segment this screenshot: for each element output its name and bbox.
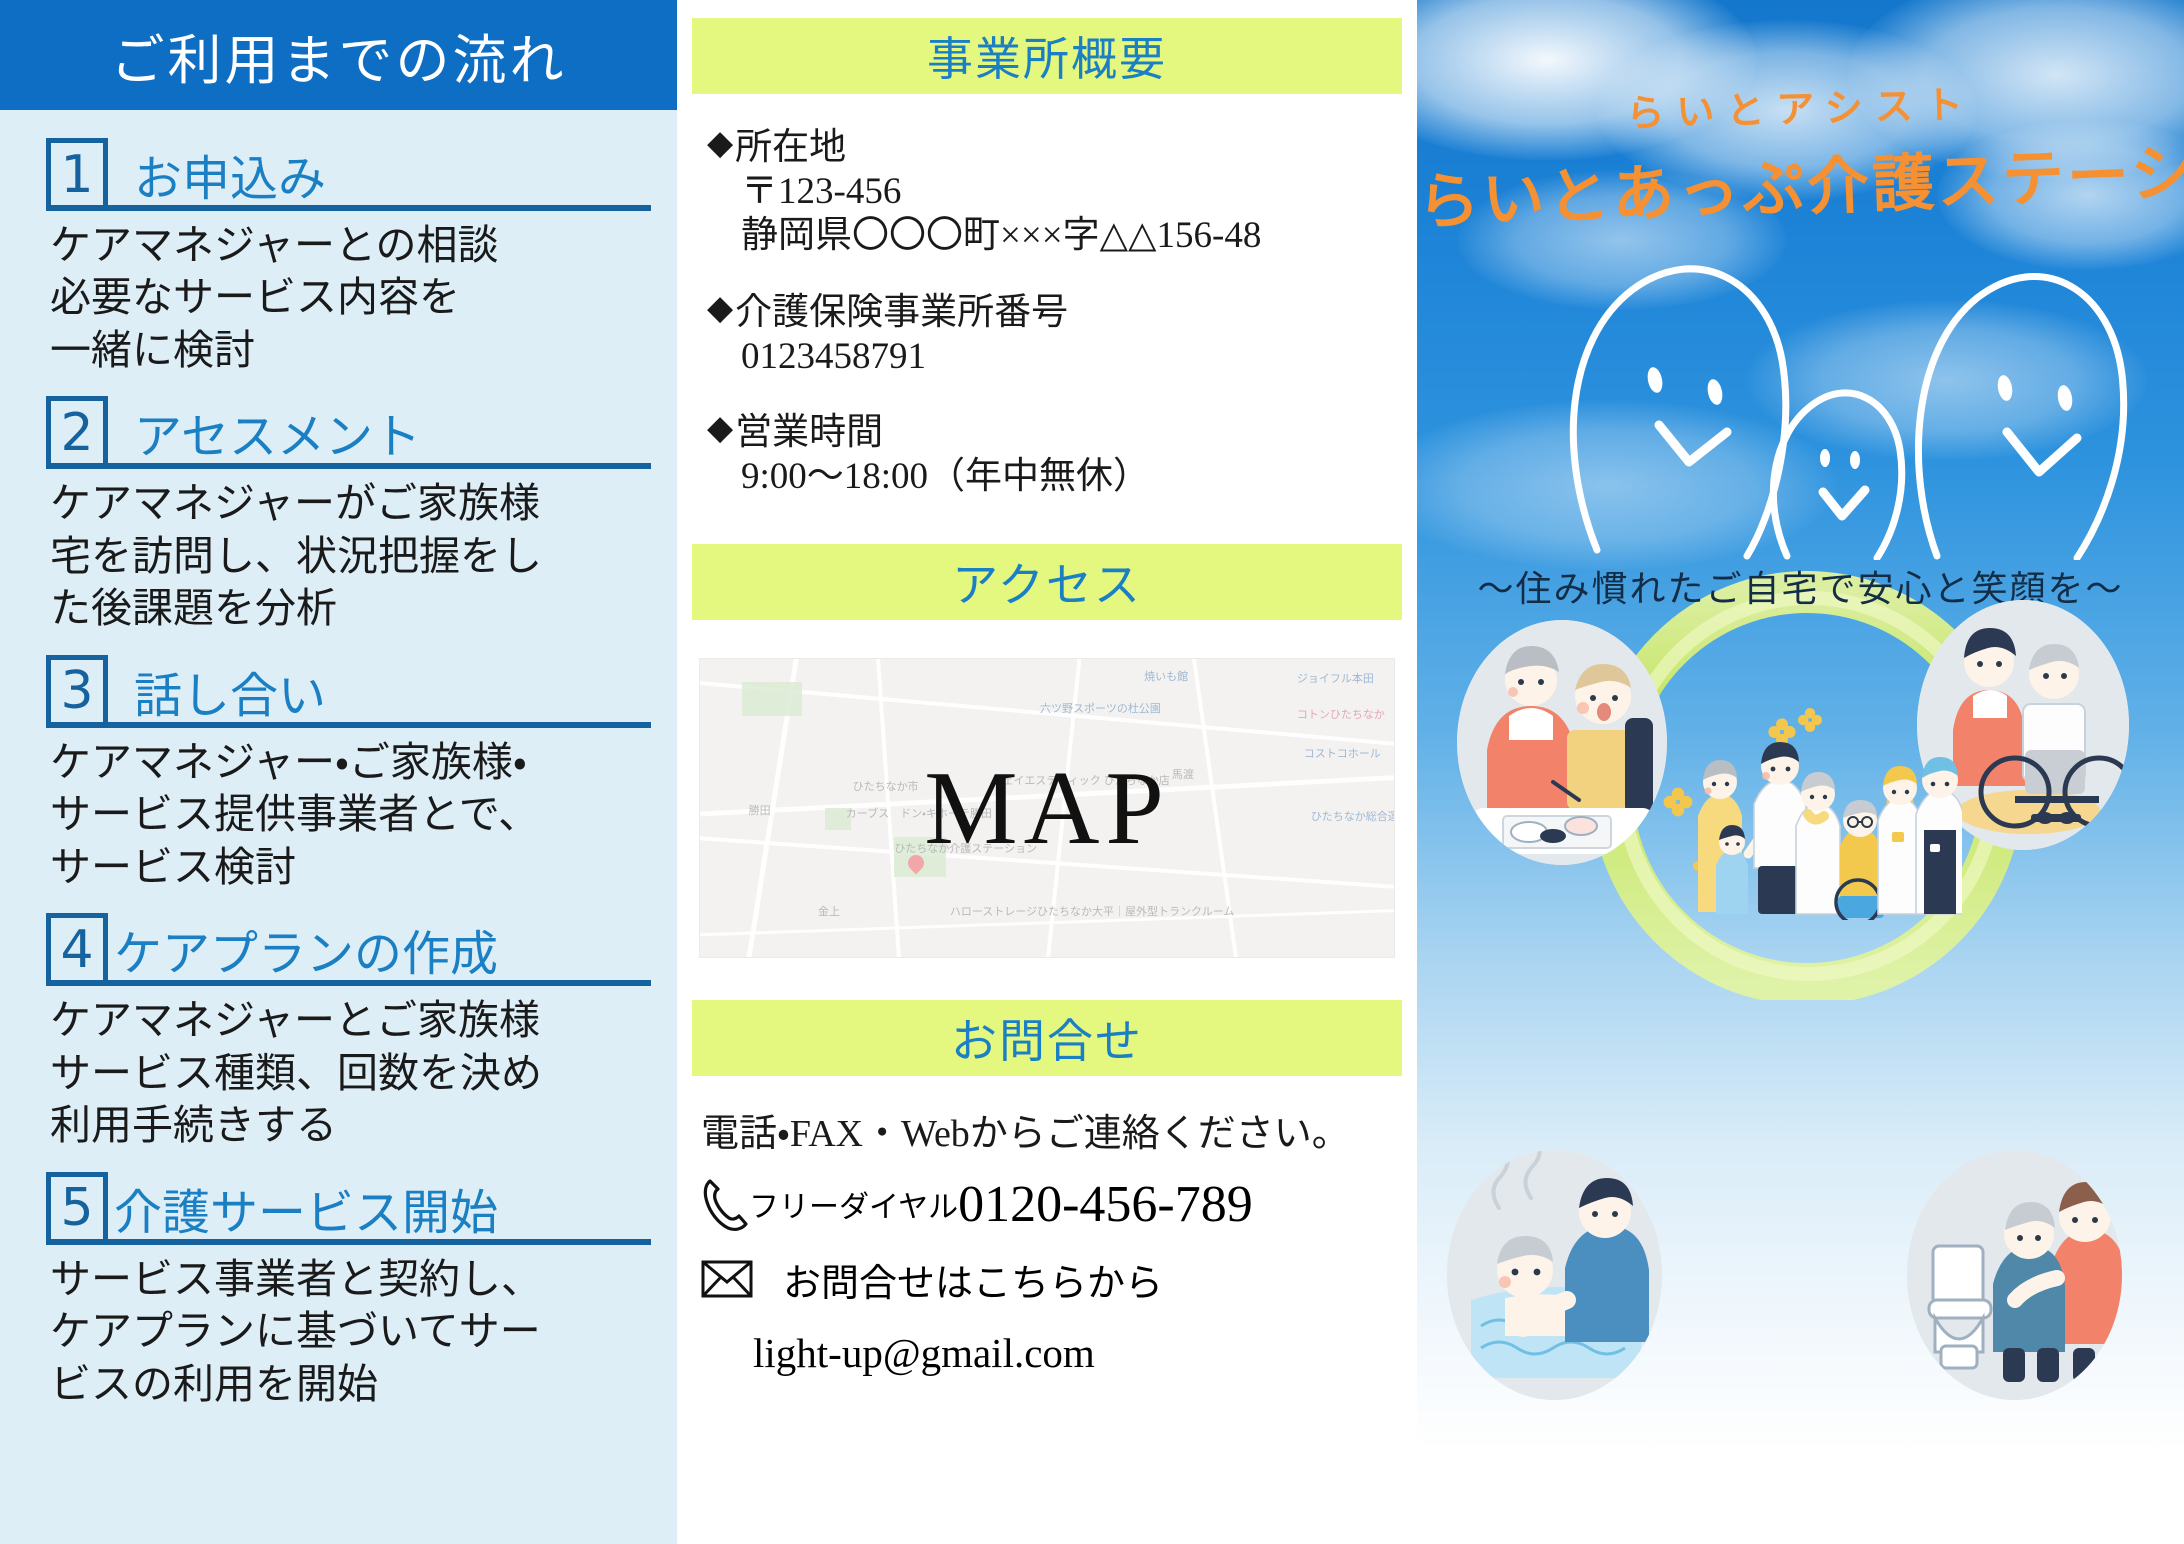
contact-band-title: お問合せ [951,1005,1143,1071]
flow-step-2: 2 アセスメント ケアマネジャーがご家族様 宅を訪問し、状況把握をし た後課題を… [46,382,651,634]
step-title-2: アセスメント [108,414,421,468]
access-band: アクセス [692,544,1402,620]
step-number-badge-2: 2 [46,396,108,468]
diamond-bullet-icon: ◆ [707,408,733,448]
family-group-illustration [1662,690,1962,920]
step-desc-line: ケアマネジャーがご家族様 [50,477,651,529]
flow-panel: ご利用までの流れ 1 お申込み ケアマネジャーとの相談 必要なサービス内容を 一… [0,0,677,1544]
step-desc-line: た後課題を分析 [50,582,651,634]
brochure-page: ご利用までの流れ 1 お申込み ケアマネジャーとの相談 必要なサービス内容を 一… [0,0,2184,1544]
flow-step-5-head: 5 介護サービス開始 [46,1158,651,1244]
step-desc-line: サービス種類、回数を決め [50,1047,651,1099]
flow-header: ご利用までの流れ [0,0,677,110]
step-desc-line: サービス検討 [50,841,651,893]
brand-tagline: 〜住み慣れたご自宅で安心と笑顔を〜 [1417,560,2184,612]
diamond-bullet-icon: ◆ [707,288,733,328]
step-title-1: お申込み [108,156,326,210]
mail-address[interactable]: light-up@gmail.com [753,1329,1393,1377]
step-description-4: ケアマネジャーとご家族様 サービス種類、回数を決め 利用手続きする [46,994,651,1151]
overview-item-hours-label: ◆ 営業時間 [707,401,1387,455]
step-desc-line: ケアプランに基づいてサー [50,1305,651,1357]
overview-band: 事業所概要 [692,18,1402,94]
contact-band: お問合せ [692,1000,1402,1076]
overview-item-hours: ◆ 営業時間 9:00〜18:00（年中無休） [707,401,1387,499]
flow-step-4: 4 ケアプランの作成 ケアマネジャーとご家族様 サービス種類、回数を決め 利用手… [46,899,651,1151]
brand-logo-main: らいとあっぷ介護ステーション [1417,122,2184,241]
flow-header-title: ご利用までの流れ [111,16,567,95]
overview-item-license-label: ◆ 介護保険事業所番号 [707,281,1387,335]
flow-step-1: 1 お申込み ケアマネジャーとの相談 必要なサービス内容を 一緒に検討 [46,124,651,376]
flow-step-1-head: 1 お申込み [46,124,651,210]
step-desc-line: 必要なサービス内容を [50,271,651,323]
step-number-badge-4: 4 [46,913,108,985]
overview-item-address-label: ◆ 所在地 [707,116,1387,170]
diamond-bullet-icon: ◆ [707,123,733,163]
info-panel: 事業所概要 ◆ 所在地 〒123-456 静岡県〇〇〇町×××字△△156-48… [677,0,1417,1544]
contact-mail-row[interactable]: お問合せはこちらから [701,1252,1393,1307]
access-map[interactable]: ひたちなか市 勝田 金上 六ツ野スポーツの杜公園 ジェイエステティック ひたちな… [699,658,1395,958]
step-desc-line: サービス提供事業者とで、 [50,788,651,840]
overview-item-license: ◆ 介護保険事業所番号 0123458791 [707,281,1387,379]
photo-bathing-assistance [1447,1150,1662,1400]
mail-cta-label: お問合せはこちらから [783,1252,1163,1307]
contact-intro-text: 電話・FAX・Webからご連絡ください。 [701,1102,1393,1157]
step-desc-line: サービス事業者と契約し、 [50,1253,651,1305]
overview-license-number: 0123458791 [707,335,1387,379]
photo-meal-assistance [1457,620,1667,865]
overview-business-hours: 9:00〜18:00（年中無休） [707,455,1387,499]
overview-label-text: 営業時間 [735,401,883,455]
brand-logo: らいとアシスト らいとあっぷ介護ステーション [1417,78,2184,227]
freedial-label: フリーダイヤル [749,1182,958,1226]
step-description-5: サービス事業者と契約し、 ケアプランに基づいてサー ビスの利用を開始 [46,1253,651,1410]
step-number-badge-5: 5 [46,1172,108,1244]
contact-phone-row[interactable]: フリーダイヤル 0120-456-789 [701,1175,1393,1234]
overview-band-title: 事業所概要 [927,23,1167,89]
freedial-number: 0120-456-789 [958,1175,1253,1234]
overview-label-text: 所在地 [735,116,846,170]
step-description-3: ケアマネジャー・ご家族様・ サービス提供事業者とで、 サービス検討 [46,736,651,893]
flow-steps-list: 1 お申込み ケアマネジャーとの相談 必要なサービス内容を 一緒に検討 2 アセ… [0,110,677,1410]
step-title-4: ケアプランの作成 [108,931,498,985]
step-desc-line: ビスの利用を開始 [50,1358,651,1410]
step-number-badge-3: 3 [46,655,108,727]
cover-panel: らいとアシスト らいとあっぷ介護ステーション 〜住み慣れたご自宅で安心と笑顔を〜 [1417,0,2184,1544]
flow-step-3-head: 3 話し合い [46,641,651,727]
step-title-5: 介護サービス開始 [108,1190,498,1244]
step-description-2: ケアマネジャーがご家族様 宅を訪問し、状況把握をし た後課題を分析 [46,477,651,634]
flow-step-4-head: 4 ケアプランの作成 [46,899,651,985]
flow-step-2-head: 2 アセスメント [46,382,651,468]
overview-item-address: ◆ 所在地 〒123-456 静岡県〇〇〇町×××字△△156-48 [707,116,1387,259]
step-title-3: 話し合い [108,673,326,727]
step-description-1: ケアマネジャーとの相談 必要なサービス内容を 一緒に検討 [46,219,651,376]
sky-smiley-drawing [1537,220,2157,560]
contact-details: 電話・FAX・Webからご連絡ください。 フリーダイヤル 0120-456-78… [677,1102,1417,1377]
flow-step-5: 5 介護サービス開始 サービス事業者と契約し、 ケアプランに基づいてサー ビスの… [46,1158,651,1410]
step-desc-line: 一緒に検討 [50,324,651,376]
step-desc-line: ケアマネジャーとご家族様 [50,994,651,1046]
step-desc-line: 利用手続きする [50,1099,651,1151]
mail-icon [701,1258,753,1300]
overview-items: ◆ 所在地 〒123-456 静岡県〇〇〇町×××字△△156-48 ◆ 介護保… [677,116,1417,500]
overview-street-address: 静岡県〇〇〇町×××字△△156-48 [707,214,1387,258]
map-overlay-label: MAP [700,659,1394,957]
overview-postal-code: 〒123-456 [707,170,1387,214]
step-number-badge-1: 1 [46,138,108,210]
phone-icon [701,1176,753,1232]
access-band-title: アクセス [952,549,1142,615]
step-desc-line: ケアマネジャー・ご家族様・ [50,736,651,788]
flow-step-3: 3 話し合い ケアマネジャー・ご家族様・ サービス提供事業者とで、 サービス検討 [46,641,651,893]
step-desc-line: 宅を訪問し、状況把握をし [50,530,651,582]
overview-label-text: 介護保険事業所番号 [735,281,1068,335]
photo-toilet-assistance [1907,1150,2122,1400]
step-desc-line: ケアマネジャーとの相談 [50,219,651,271]
